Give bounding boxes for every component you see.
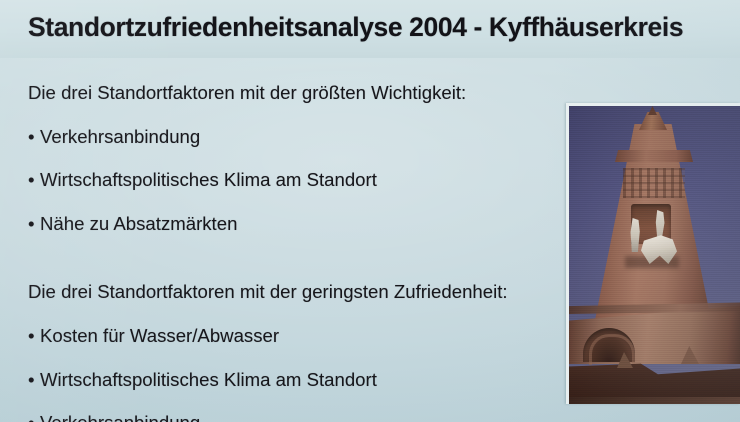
page-title: Standortzufriedenheitsanalyse 2004 - Kyf…: [28, 12, 734, 43]
list-item-label: Verkehrsanbindung: [40, 414, 200, 422]
content-block-importance: Die drei Standortfaktoren mit der größte…: [28, 84, 548, 233]
kyffhaeuser-monument-photo: [569, 106, 740, 404]
spacer: [28, 389, 548, 414]
list-item: • Wirtschaftspolitisches Klima am Stando…: [28, 171, 548, 190]
presentation-slide: Standortzufriedenheitsanalyse 2004 - Kyf…: [0, 0, 740, 422]
content-block-satisfaction: Die drei Standortfaktoren mit der gering…: [28, 283, 548, 422]
ground-strip: [569, 397, 740, 404]
list-item-label: Verkehrsanbindung: [40, 128, 200, 147]
list-item-label: Wirtschaftspolitisches Klima am Standort: [40, 371, 377, 390]
bullet-dot-icon: •: [28, 215, 40, 234]
slide-body: Die drei Standortfaktoren mit der größte…: [28, 84, 548, 422]
bullet-dot-icon: •: [28, 128, 40, 147]
block-heading: Die drei Standortfaktoren mit der größte…: [28, 84, 548, 103]
list-item: • Kosten für Wasser/Abwasser: [28, 327, 548, 346]
list-item: • Verkehrsanbindung: [28, 128, 548, 147]
list-item-label: Kosten für Wasser/Abwasser: [40, 327, 279, 346]
list-item: • Verkehrsanbindung: [28, 414, 548, 422]
spacer: [28, 346, 548, 371]
block-heading: Die drei Standortfaktoren mit der gering…: [28, 283, 548, 302]
list-item-label: Nähe zu Absatzmärkten: [40, 215, 237, 234]
list-item-label: Wirtschaftspolitisches Klima am Standort: [40, 171, 377, 190]
spacer: [28, 146, 548, 171]
spacer: [28, 302, 548, 327]
spacer: [28, 190, 548, 215]
bullet-dot-icon: •: [28, 327, 40, 346]
bullet-dot-icon: •: [28, 171, 40, 190]
spacer: [28, 103, 548, 128]
list-item: • Wirtschaftspolitisches Klima am Stando…: [28, 371, 548, 390]
bullet-dot-icon: •: [28, 414, 40, 422]
tower-cornice: [615, 150, 693, 162]
list-item: • Nähe zu Absatzmärkten: [28, 215, 548, 234]
bullet-dot-icon: •: [28, 371, 40, 390]
tower-relief-band: [623, 168, 685, 198]
photo-frame: [566, 103, 740, 404]
block-spacer: [28, 233, 548, 283]
